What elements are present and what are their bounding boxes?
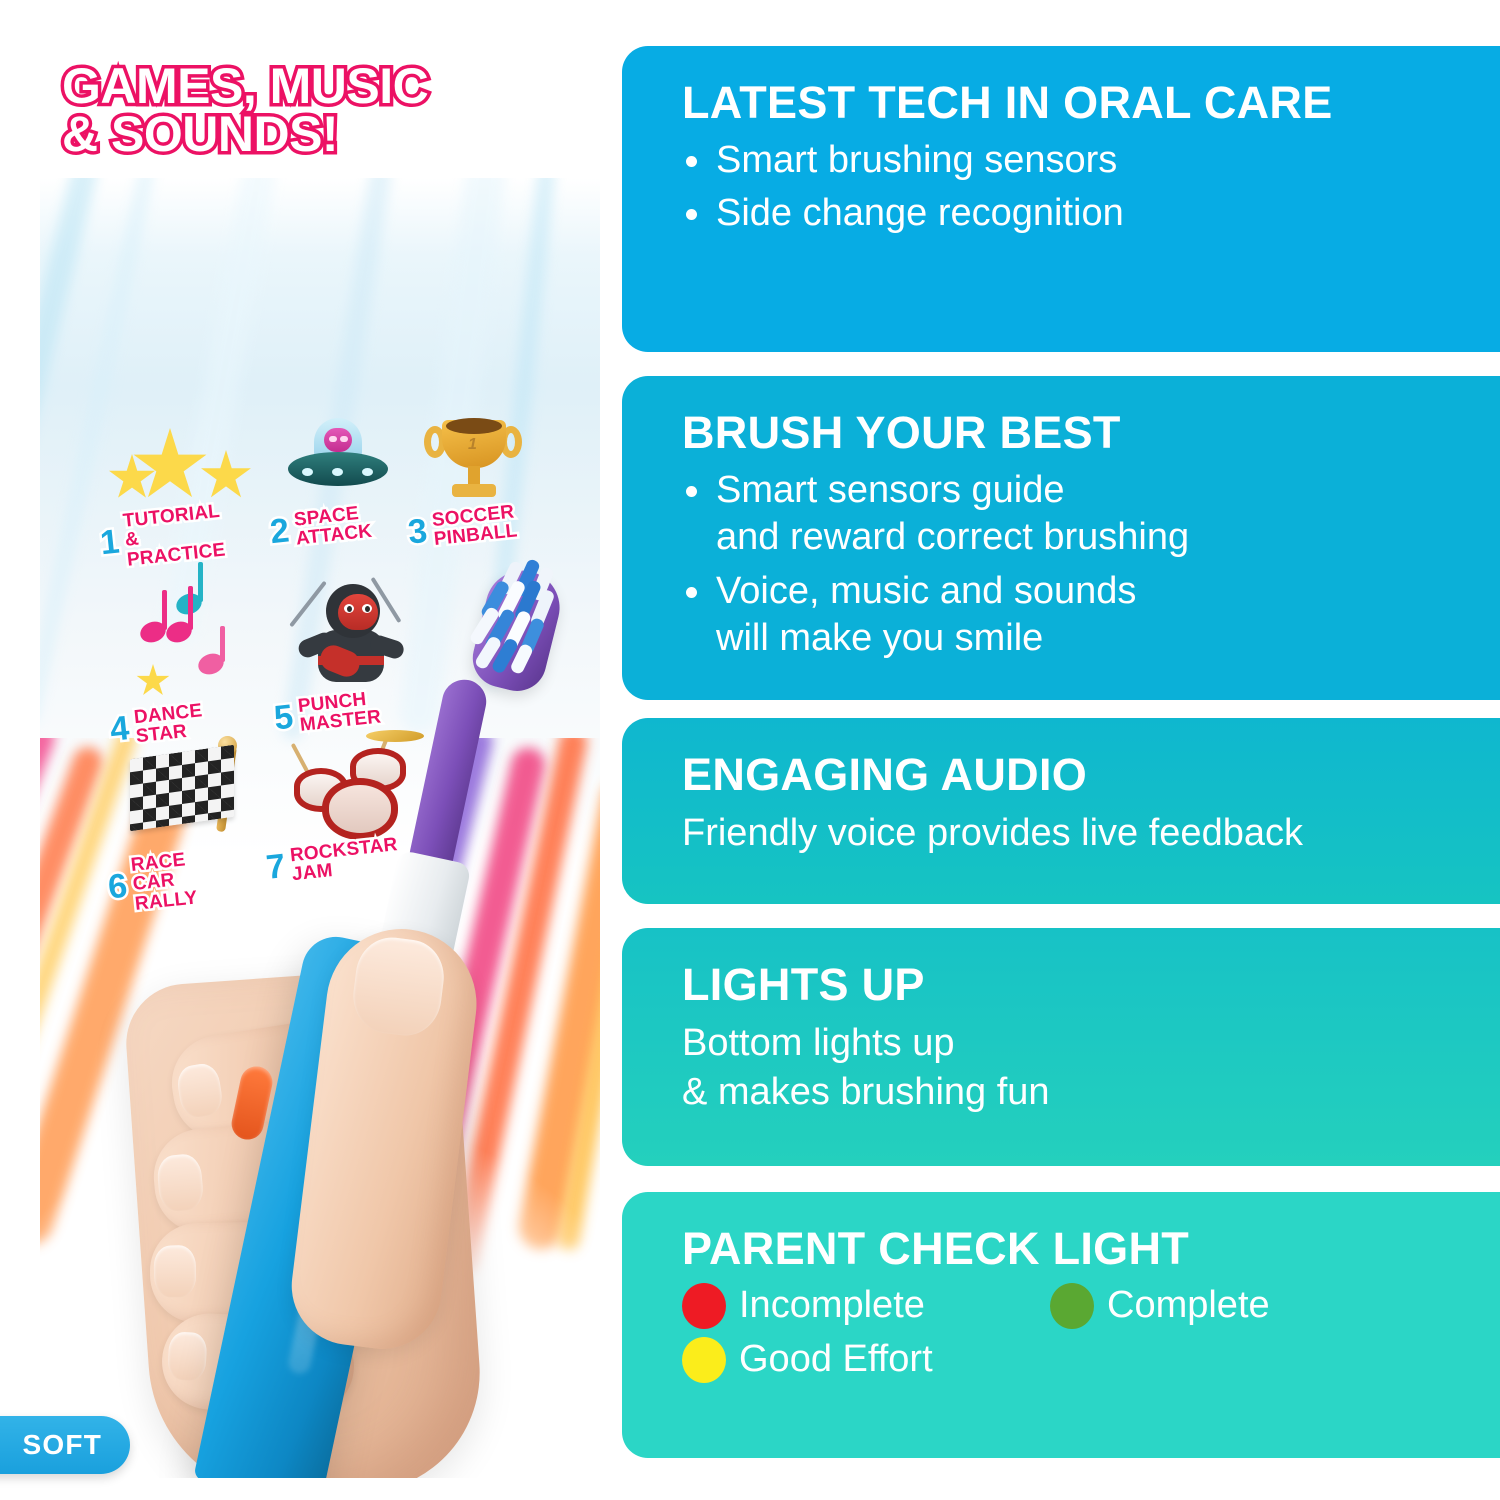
- game-label: TUTORIAL & PRACTICE: [122, 502, 226, 570]
- bullet-item: Voice, music and sounds will make you sm…: [682, 568, 1500, 663]
- game-number: 3: [407, 514, 429, 550]
- game-number: 2: [269, 514, 291, 550]
- card-brush-your-best: BRUSH YOUR BEST Smart sensors guide and …: [622, 376, 1500, 700]
- game-label: SOCCER PINBALL: [431, 502, 518, 549]
- status-dot-yellow-icon: [682, 1337, 726, 1383]
- game-number: 1: [99, 525, 121, 561]
- card-latest-tech: LATEST TECH IN ORAL CARE Smart brushing …: [622, 46, 1500, 352]
- status-dot-red-icon: [682, 1283, 726, 1329]
- indicator-label: Complete: [1107, 1284, 1270, 1327]
- card-body-line: Bottom lights up: [682, 1019, 1500, 1068]
- page-title: GAMES, MUSIC & SOUNDS!: [62, 62, 602, 158]
- card-body-line: & makes brushing fun: [682, 1068, 1500, 1117]
- gold-trophy-icon: 1: [426, 420, 522, 506]
- bullet-item: Side change recognition: [682, 190, 1500, 238]
- soft-badge: SOFT: [0, 1416, 130, 1474]
- card-body-line: Friendly voice provides live feedback: [682, 809, 1500, 858]
- indicator-label: Good Effort: [739, 1338, 933, 1381]
- card-title: BRUSH YOUR BEST: [682, 410, 1500, 457]
- red-ninja-icon: [296, 568, 406, 688]
- card-title: PARENT CHECK LIGHT: [682, 1226, 1500, 1273]
- card-parent-check-light: PARENT CHECK LIGHT Incomplete Complete: [622, 1192, 1500, 1458]
- card-title: LIGHTS UP: [682, 962, 1500, 1009]
- product-infographic: brite brush 1: [0, 0, 1500, 1500]
- drum-kit-icon: [288, 726, 428, 846]
- indicator-label: Incomplete: [739, 1284, 925, 1327]
- card-body: Friendly voice provides live feedback: [682, 809, 1500, 858]
- soft-badge-label: SOFT: [23, 1429, 102, 1461]
- card-body: Bottom lights up & makes brushing fun: [682, 1019, 1500, 1118]
- status-dot-green-icon: [1050, 1283, 1094, 1329]
- games-panel: brite brush 1: [40, 178, 600, 1478]
- indicator-incomplete: Incomplete: [682, 1283, 1050, 1329]
- game-number: 4: [108, 711, 130, 747]
- headline-line-2: & SOUNDS!: [62, 110, 602, 158]
- headline-line-1: GAMES, MUSIC: [62, 62, 602, 110]
- gold-stars-icon: [108, 428, 258, 508]
- indicator-good-effort: Good Effort: [682, 1337, 933, 1383]
- ufo-spaceship-icon: [288, 418, 388, 504]
- game-number: 7: [265, 849, 287, 885]
- game-label: ROCKSTAR JAM: [289, 835, 400, 885]
- card-title: LATEST TECH IN ORAL CARE: [682, 80, 1500, 127]
- games-list: 1 TUTORIAL & PRACTICE: [90, 418, 590, 898]
- game-label: SPACE ATTACK: [293, 503, 373, 550]
- checkered-flag-icon: [130, 738, 260, 848]
- bullet-item: Smart sensors guide and reward correct b…: [682, 467, 1500, 562]
- bullet-item: Smart brushing sensors: [682, 137, 1500, 185]
- indicator-complete: Complete: [1050, 1283, 1270, 1329]
- game-label: RACE CAR RALLY: [130, 850, 198, 914]
- card-engaging-audio: ENGAGING AUDIO Friendly voice provides l…: [622, 718, 1500, 904]
- photo-white-wash: [40, 958, 600, 1478]
- card-lights-up: LIGHTS UP Bottom lights up & makes brush…: [622, 928, 1500, 1166]
- card-bullets: Smart brushing sensors Side change recog…: [682, 137, 1500, 238]
- card-title: ENGAGING AUDIO: [682, 752, 1500, 799]
- music-notes-icon: [136, 588, 266, 698]
- indicator-legend: Incomplete Complete Good Effort: [682, 1283, 1500, 1383]
- game-number: 6: [106, 869, 128, 905]
- card-bullets: Smart sensors guide and reward correct b…: [682, 467, 1500, 663]
- feature-cards: LATEST TECH IN ORAL CARE Smart brushing …: [622, 0, 1500, 1500]
